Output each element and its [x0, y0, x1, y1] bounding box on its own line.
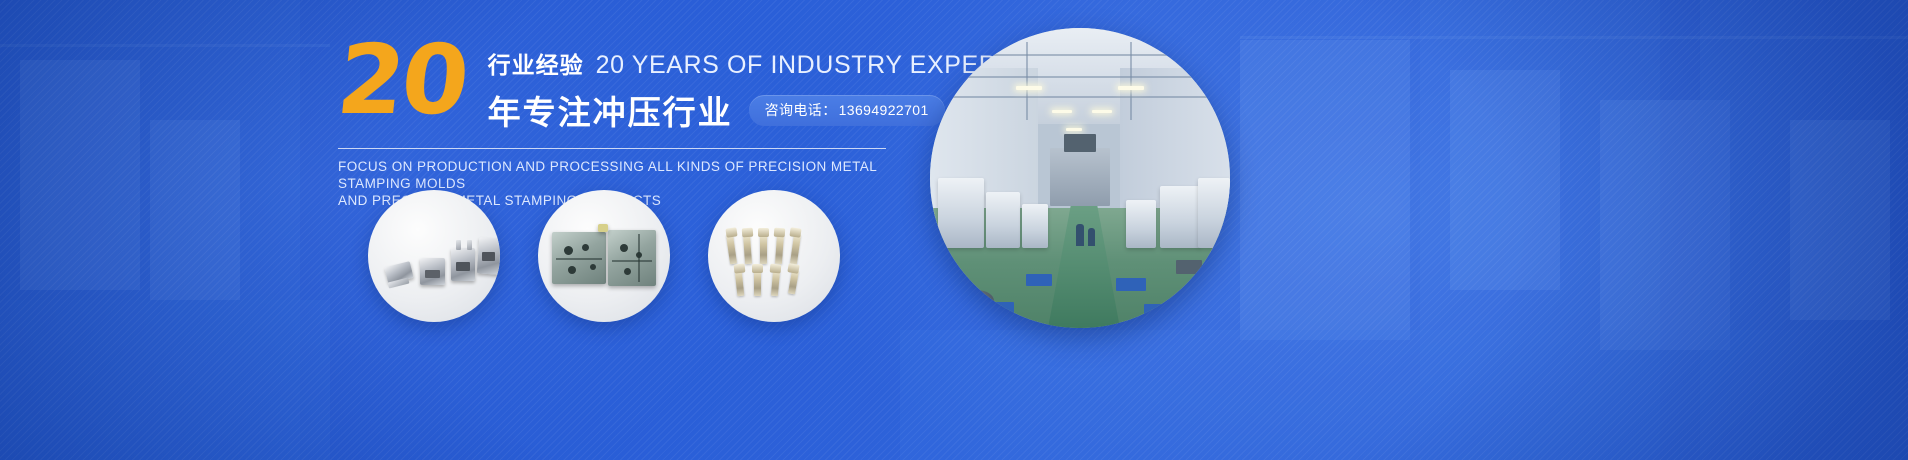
consultation-phone-badge[interactable]: 咨询电话： 13694922701	[749, 95, 945, 126]
description-line-1: FOCUS ON PRODUCTION AND PROCESSING ALL K…	[338, 158, 898, 192]
headline-cn-small: 行业经验	[488, 46, 584, 80]
phone-badge-label: 咨询电话：	[765, 100, 837, 120]
factory-photo-circle[interactable]	[930, 28, 1230, 328]
promo-banner: 20 行业经验 20 YEARS OF INDUSTRY EXPERIENCE …	[0, 0, 1908, 460]
product-circle-terminal-pins[interactable]	[708, 190, 840, 322]
headline-row: 20 行业经验 20 YEARS OF INDUSTRY EXPERIENCE …	[338, 38, 898, 134]
product-circle-stamping-mold[interactable]	[538, 190, 670, 322]
product-circle-connectors[interactable]	[368, 190, 500, 322]
phone-badge-number: 13694922701	[839, 102, 929, 118]
section-divider	[338, 148, 886, 149]
years-number: 20	[334, 40, 470, 121]
headline-cn-large: 年专注冲压行业	[488, 86, 733, 134]
banner-content: 20 行业经验 20 YEARS OF INDUSTRY EXPERIENCE …	[338, 38, 898, 209]
